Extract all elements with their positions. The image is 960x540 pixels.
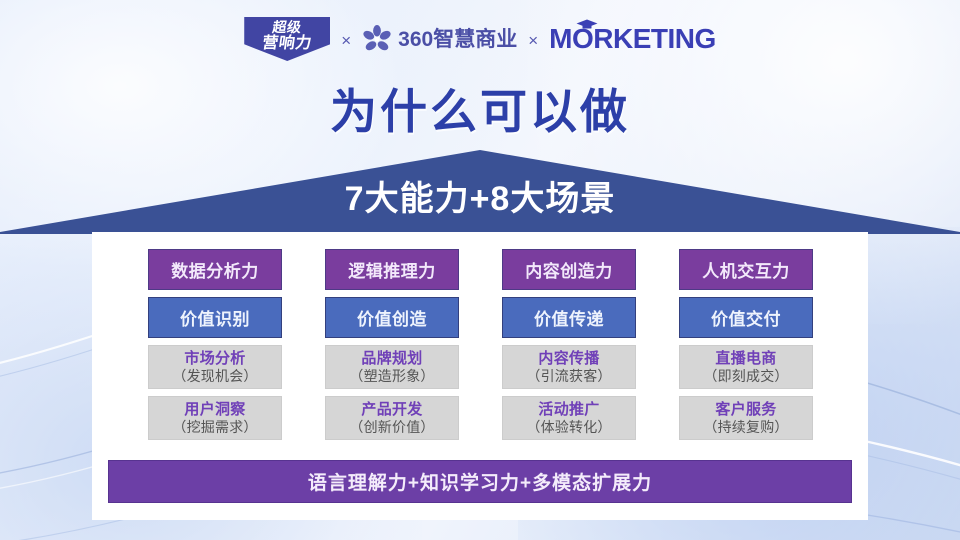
360-logo: 360智慧商业 — [362, 24, 517, 54]
scene-subtitle: （体验转化） — [526, 419, 611, 435]
morketing-logo: MORKETING — [549, 25, 716, 53]
foundation-bar[interactable]: 语言理解力+知识学习力+多模态扩展力 — [108, 460, 852, 503]
morketing-logo-text: MORKETING — [549, 25, 716, 53]
scene-title: 产品开发 — [361, 401, 422, 418]
scene-subtitle: （塑造形象） — [349, 368, 434, 384]
chaoji-logo-line1: 超级 — [243, 20, 331, 35]
logo-separator-1: × — [341, 32, 351, 49]
scene-card-4-1[interactable]: 直播电商 （即刻成交） — [679, 345, 813, 389]
scene-title: 客户服务 — [715, 401, 776, 418]
page-subtitle: 7大能力+8大场景 — [0, 182, 960, 216]
capability-card-2[interactable]: 逻辑推理力 — [325, 249, 459, 290]
scene-title: 品牌规划 — [361, 350, 422, 367]
capability-card-4[interactable]: 人机交互力 — [679, 249, 813, 290]
chaoji-logo-line2: 营响力 — [243, 35, 331, 52]
graduation-cap-icon — [576, 19, 598, 30]
360-logo-text: 360智慧商业 — [398, 29, 517, 50]
capability-scene-grid: 数据分析力 逻辑推理力 内容创造力 人机交互力 价值识别 价值创造 价值传递 价… — [148, 249, 812, 440]
value-card-2[interactable]: 价值创造 — [325, 297, 459, 338]
scene-card-2-2[interactable]: 产品开发 （创新价值） — [325, 396, 459, 440]
scene-subtitle: （创新价值） — [349, 419, 434, 435]
scene-card-1-1[interactable]: 市场分析 （发现机会） — [148, 345, 282, 389]
value-card-4[interactable]: 价值交付 — [679, 297, 813, 338]
scene-title: 直播电商 — [715, 350, 776, 367]
scene-subtitle: （持续复购） — [703, 419, 788, 435]
scene-title: 用户洞察 — [184, 401, 245, 418]
value-card-3[interactable]: 价值传递 — [502, 297, 636, 338]
scene-card-2-1[interactable]: 品牌规划 （塑造形象） — [325, 345, 459, 389]
scene-title: 市场分析 — [184, 350, 245, 367]
scene-subtitle: （引流获客） — [526, 368, 611, 384]
scene-subtitle: （挖掘需求） — [172, 419, 257, 435]
capability-card-3[interactable]: 内容创造力 — [502, 249, 636, 290]
page-title: 为什么可以做 — [0, 88, 960, 135]
scene-card-4-2[interactable]: 客户服务 （持续复购） — [679, 396, 813, 440]
scene-title: 活动推广 — [538, 401, 599, 418]
scene-subtitle: （发现机会） — [172, 368, 257, 384]
chaoji-yingxiangli-logo: 超级 营响力 — [244, 17, 330, 61]
scene-title: 内容传播 — [538, 350, 599, 367]
360-flower-icon — [362, 24, 392, 54]
logo-lockup: 超级 营响力 × 360智慧商业 × MORKETING — [0, 16, 960, 62]
value-card-1[interactable]: 价值识别 — [148, 297, 282, 338]
capability-card-1[interactable]: 数据分析力 — [148, 249, 282, 290]
logo-separator-2: × — [528, 32, 538, 49]
scene-subtitle: （即刻成交） — [703, 368, 788, 384]
scene-card-1-2[interactable]: 用户洞察 （挖掘需求） — [148, 396, 282, 440]
slide-canvas: 超级 营响力 × 360智慧商业 × MORKETING — [0, 0, 960, 540]
scene-card-3-2[interactable]: 活动推广 （体验转化） — [502, 396, 636, 440]
scene-card-3-1[interactable]: 内容传播 （引流获客） — [502, 345, 636, 389]
